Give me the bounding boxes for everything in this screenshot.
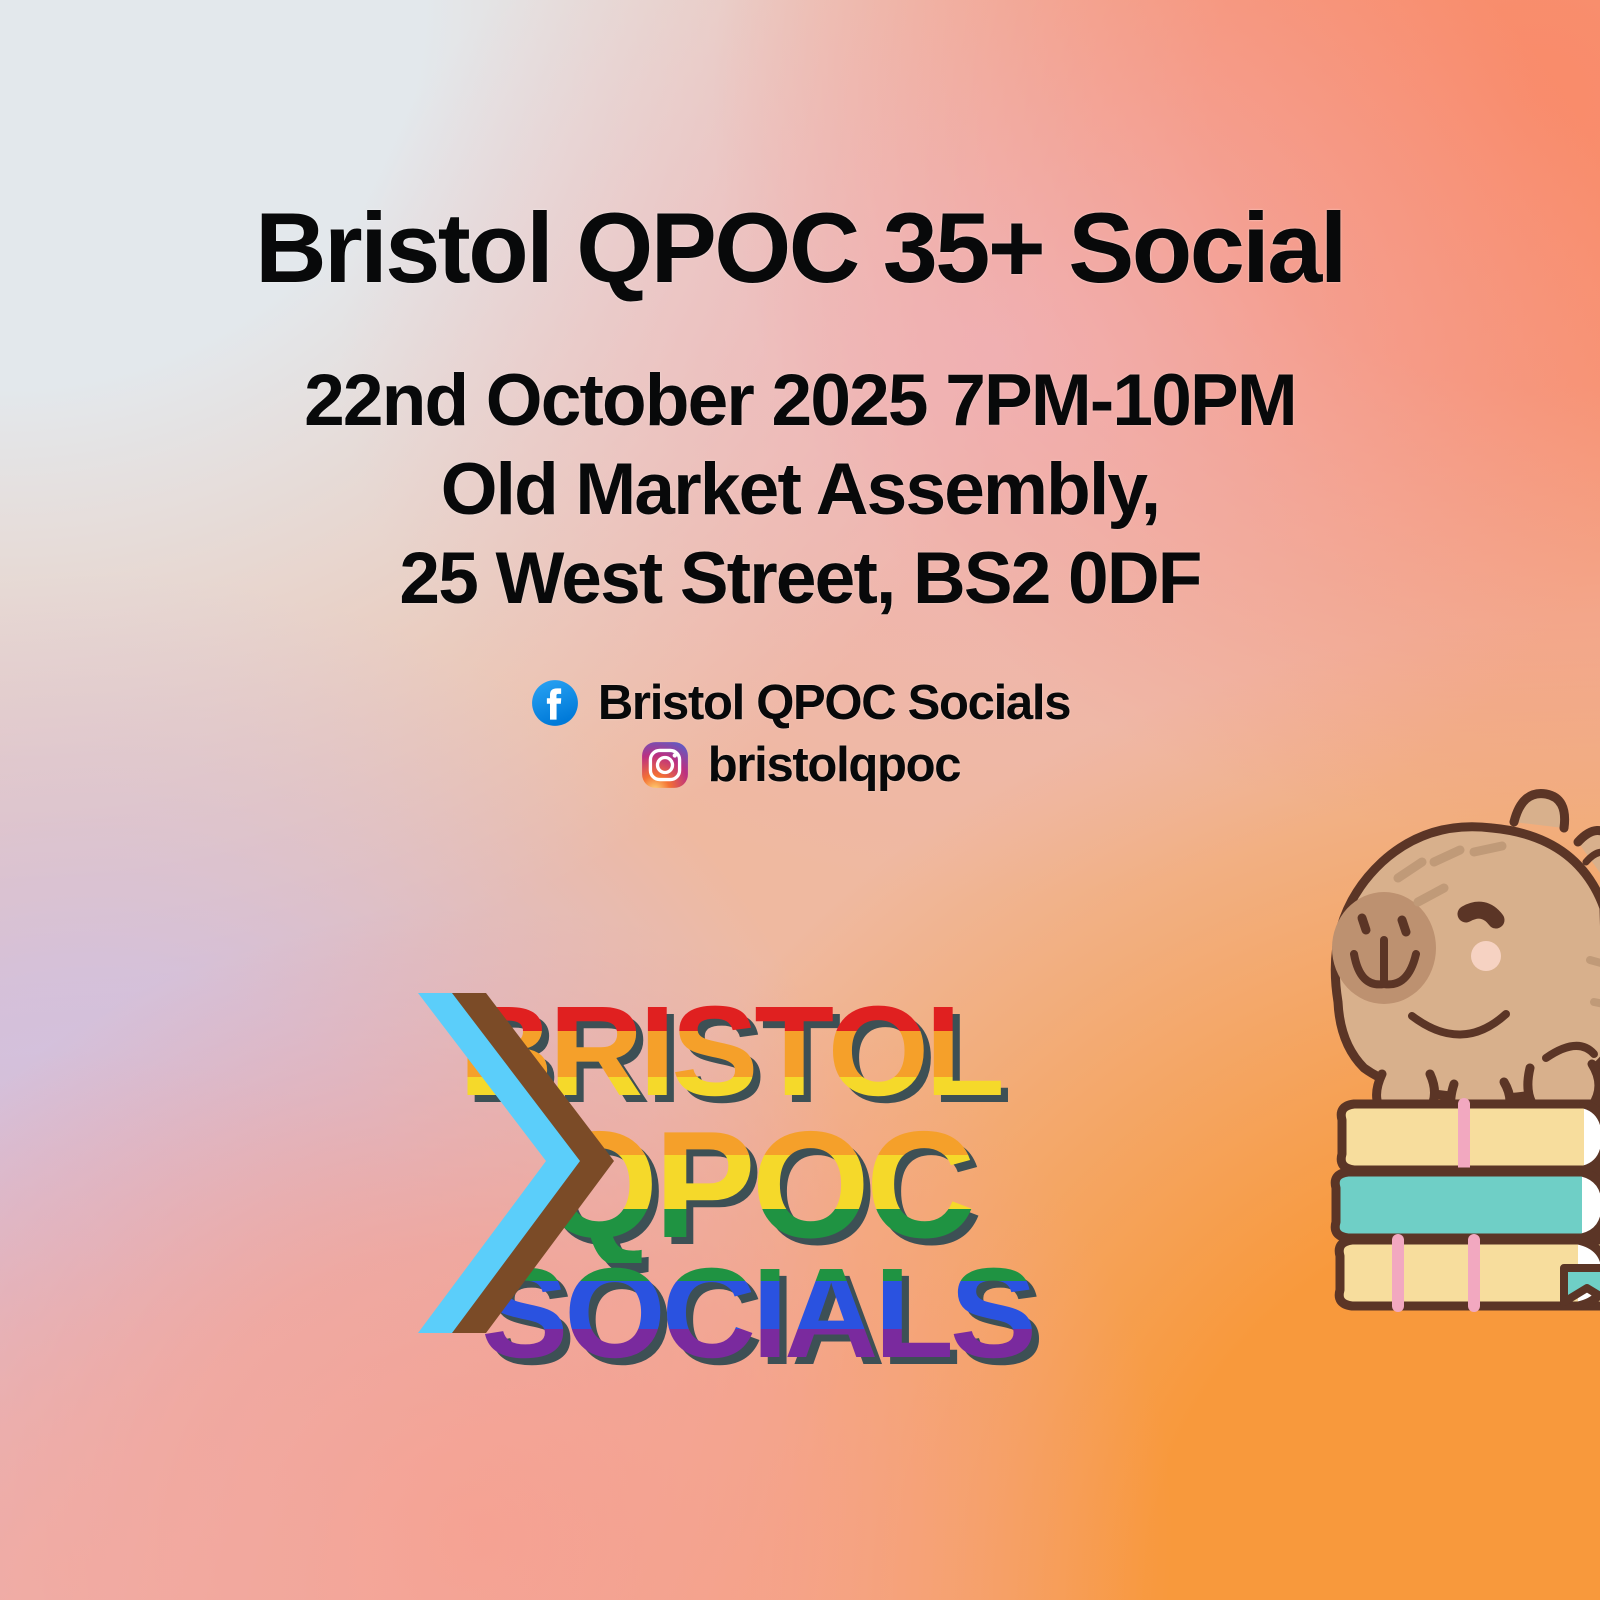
logo-artwork: BRISTOL QPOC SOCIALS BRISTOL	[418, 985, 1178, 1385]
bristol-qpoc-socials-logo: BRISTOL QPOC SOCIALS BRISTOL	[418, 985, 1178, 1385]
instagram-icon	[640, 740, 690, 790]
event-venue: Old Market Assembly,	[0, 445, 1600, 534]
event-details: 22nd October 2025 7PM-10PM Old Market As…	[0, 356, 1600, 623]
book-middle	[1335, 1172, 1600, 1238]
capybara-eye	[1466, 910, 1496, 920]
instagram-handle: bristolqpoc	[708, 737, 960, 793]
event-datetime: 22nd October 2025 7PM-10PM	[0, 356, 1600, 445]
capybara-blush	[1471, 941, 1501, 971]
event-address: 25 West Street, BS2 0DF	[0, 534, 1600, 623]
capybara-illustration	[1278, 702, 1600, 1282]
capybara-nostril-left	[1362, 918, 1366, 930]
capybara-nostril-right	[1402, 920, 1406, 932]
book-middle-pages	[1582, 1172, 1600, 1238]
facebook-handle: Bristol QPOC Socials	[598, 675, 1070, 731]
poster-text-block: Bristol QPOC 35+ Social 22nd October 202…	[0, 0, 1600, 799]
poster-canvas: Bristol QPOC 35+ Social 22nd October 202…	[0, 0, 1600, 1600]
book-top-pages	[1584, 1104, 1600, 1170]
capybara-ear-left	[1514, 794, 1565, 828]
page-title: Bristol QPOC 35+ Social	[0, 196, 1600, 300]
facebook-icon	[530, 678, 580, 728]
book-top	[1341, 1104, 1600, 1170]
capybara-mascot	[1278, 702, 1600, 1282]
